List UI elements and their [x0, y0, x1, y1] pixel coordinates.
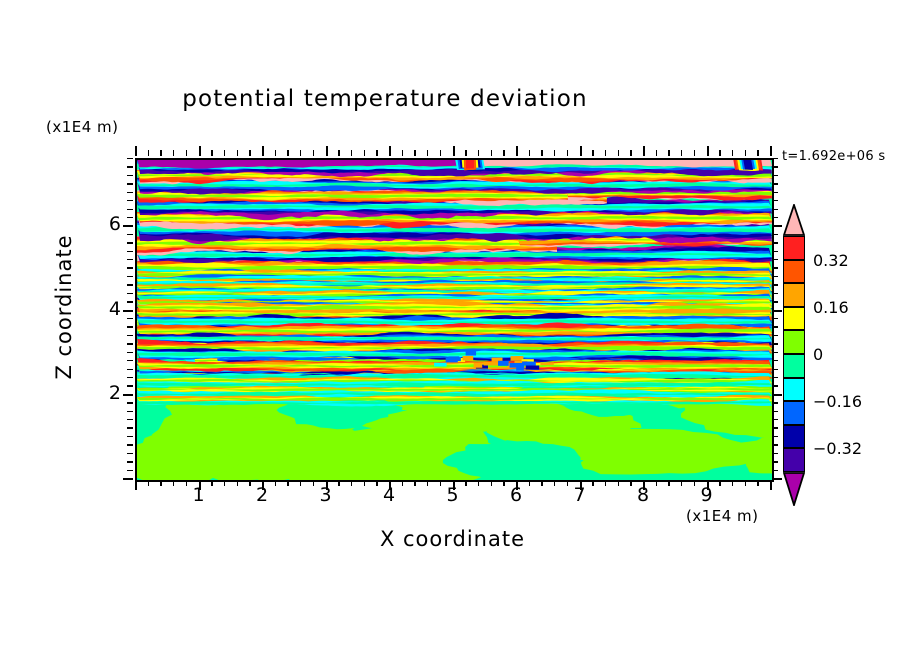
tick-mark — [668, 150, 669, 156]
tick-mark — [127, 453, 133, 454]
tick-mark — [668, 480, 669, 486]
tick-mark — [127, 175, 133, 176]
tick-mark — [707, 146, 709, 156]
x-axis-label: X coordinate — [135, 527, 770, 551]
tick-mark — [618, 480, 619, 486]
tick-mark — [681, 150, 682, 156]
tick-mark — [123, 310, 133, 312]
tick-mark — [681, 480, 682, 486]
tick-mark — [123, 394, 133, 396]
tick-mark — [237, 150, 238, 156]
tick-mark — [772, 234, 778, 235]
tick-mark — [127, 267, 133, 268]
tick-mark — [127, 335, 133, 336]
tick-mark — [127, 200, 133, 201]
z-tick-label: 4 — [87, 298, 121, 320]
tick-mark — [160, 480, 161, 486]
tick-mark — [224, 480, 225, 486]
colorbar-band — [783, 425, 805, 449]
tick-mark — [127, 209, 133, 210]
tick-mark — [127, 377, 133, 378]
tick-mark — [772, 225, 782, 227]
tick-mark — [427, 150, 428, 156]
tick-mark — [643, 146, 645, 156]
tick-mark — [127, 360, 133, 361]
tick-mark — [772, 461, 778, 462]
tick-mark — [491, 480, 492, 486]
tick-mark — [745, 150, 746, 156]
tick-mark — [326, 146, 328, 156]
tick-mark — [262, 146, 264, 156]
tick-mark — [127, 343, 133, 344]
x-tick-label: 4 — [369, 484, 409, 506]
tick-mark — [772, 402, 778, 403]
tick-mark — [127, 242, 133, 243]
tick-mark — [772, 478, 782, 480]
page-title: potential temperature deviation — [0, 86, 770, 112]
tick-mark — [127, 436, 133, 437]
tick-mark — [772, 318, 778, 319]
colorbar-band — [783, 448, 805, 472]
tick-mark — [135, 146, 137, 156]
tick-mark — [772, 436, 778, 437]
tick-mark — [453, 146, 455, 156]
x-axis-units: (x1E4 m) — [686, 507, 759, 525]
tick-mark — [127, 411, 133, 412]
tick-mark — [541, 480, 542, 486]
tick-mark — [127, 444, 133, 445]
tick-mark — [127, 301, 133, 302]
tick-mark — [529, 150, 530, 156]
tick-mark — [745, 480, 746, 486]
tick-mark — [541, 150, 542, 156]
tick-mark — [605, 150, 606, 156]
tick-mark — [772, 209, 778, 210]
colorbar-band — [783, 260, 805, 284]
colorbar-band — [783, 307, 805, 331]
tick-mark — [338, 150, 339, 156]
tick-mark — [127, 217, 133, 218]
z-tick-label: 2 — [87, 382, 121, 404]
contour-svg — [137, 160, 772, 480]
tick-mark — [127, 461, 133, 462]
tick-mark — [719, 150, 720, 156]
tick-mark — [211, 150, 212, 156]
tick-mark — [770, 146, 772, 156]
tick-mark — [757, 150, 758, 156]
tick-mark — [516, 146, 518, 156]
x-tick-label: 6 — [496, 484, 536, 506]
tick-mark — [351, 480, 352, 486]
tick-mark — [772, 166, 778, 167]
tick-mark — [478, 150, 479, 156]
tick-mark — [772, 360, 778, 361]
tick-mark — [772, 284, 778, 285]
tick-mark — [127, 352, 133, 353]
tick-mark — [127, 158, 133, 159]
tick-mark — [772, 419, 778, 420]
colorbar-tick-label: 0.32 — [813, 251, 849, 270]
tick-mark — [148, 150, 149, 156]
tick-mark — [186, 150, 187, 156]
tick-mark — [275, 150, 276, 156]
x-tick-label: 5 — [433, 484, 473, 506]
tick-mark — [127, 326, 133, 327]
tick-mark — [772, 175, 778, 176]
colorbar-band — [783, 330, 805, 354]
colorbar-band — [783, 378, 805, 402]
colorbar-tick-label: −0.16 — [813, 392, 862, 411]
x-tick-label: 8 — [623, 484, 663, 506]
colorbar-under-arrow — [783, 472, 805, 506]
tick-mark — [376, 150, 377, 156]
tick-mark — [732, 480, 733, 486]
tick-mark — [127, 369, 133, 370]
tick-mark — [402, 150, 403, 156]
tick-mark — [772, 343, 778, 344]
tick-mark — [173, 480, 174, 486]
tick-mark — [772, 470, 778, 471]
tick-mark — [364, 480, 365, 486]
tick-mark — [351, 150, 352, 156]
tick-mark — [630, 150, 631, 156]
colorbar-band — [783, 401, 805, 425]
colorbar-band — [783, 236, 805, 260]
tick-mark — [772, 251, 778, 252]
z-tick-label: 6 — [87, 213, 121, 235]
colorbar-tick-label: 0 — [813, 345, 823, 364]
tick-mark — [287, 150, 288, 156]
tick-mark — [772, 276, 778, 277]
tick-mark — [772, 267, 778, 268]
colorbar-tick-label: −0.32 — [813, 439, 862, 458]
tick-mark — [440, 150, 441, 156]
tick-mark — [772, 453, 778, 454]
tick-mark — [237, 480, 238, 486]
tick-mark — [694, 150, 695, 156]
tick-mark — [772, 326, 778, 327]
tick-mark — [478, 480, 479, 486]
x-tick-label: 7 — [560, 484, 600, 506]
tick-mark — [127, 385, 133, 386]
tick-mark — [127, 183, 133, 184]
tick-mark — [300, 150, 301, 156]
time-annotation: t=1.692e+06 s — [782, 149, 885, 164]
tick-mark — [127, 251, 133, 252]
tick-mark — [772, 217, 778, 218]
plot-area — [135, 158, 774, 482]
tick-mark — [772, 200, 778, 201]
colorbar: 0.320.160−0.16−0.32 — [783, 236, 805, 472]
tick-mark — [300, 480, 301, 486]
tick-mark — [127, 284, 133, 285]
x-tick-label: 1 — [179, 484, 219, 506]
z-axis-label: Z coordinate — [52, 207, 76, 407]
tick-mark — [554, 150, 555, 156]
tick-mark — [127, 318, 133, 319]
tick-mark — [772, 310, 782, 312]
tick-mark — [772, 369, 778, 370]
tick-mark — [127, 402, 133, 403]
tick-mark — [123, 225, 133, 227]
tick-mark — [127, 192, 133, 193]
tick-mark — [772, 183, 778, 184]
tick-mark — [592, 150, 593, 156]
tick-mark — [656, 150, 657, 156]
tick-mark — [287, 480, 288, 486]
tick-mark — [772, 192, 778, 193]
tick-mark — [127, 427, 133, 428]
tick-mark — [160, 150, 161, 156]
tick-mark — [414, 480, 415, 486]
tick-mark — [772, 335, 778, 336]
x-tick-label: 3 — [306, 484, 346, 506]
tick-mark — [127, 419, 133, 420]
colorbar-band — [783, 283, 805, 307]
tick-mark — [364, 150, 365, 156]
tick-mark — [772, 377, 778, 378]
tick-mark — [127, 166, 133, 167]
tick-mark — [772, 394, 782, 396]
z-axis-units: (x1E4 m) — [46, 118, 119, 136]
tick-mark — [249, 150, 250, 156]
x-tick-label: 9 — [687, 484, 727, 506]
tick-mark — [772, 242, 778, 243]
tick-mark — [491, 150, 492, 156]
tick-mark — [224, 150, 225, 156]
tick-mark — [772, 385, 778, 386]
tick-mark — [127, 293, 133, 294]
tick-mark — [123, 478, 133, 480]
tick-mark — [772, 352, 778, 353]
tick-mark — [127, 234, 133, 235]
tick-mark — [772, 158, 778, 159]
tick-mark — [127, 276, 133, 277]
tick-mark — [605, 480, 606, 486]
tick-mark — [313, 150, 314, 156]
tick-mark — [770, 480, 772, 490]
tick-mark — [772, 301, 778, 302]
figure-canvas: potential temperature deviation (x1E4 m)… — [0, 0, 904, 654]
tick-mark — [148, 480, 149, 486]
colorbar-tick-label: 0.16 — [813, 298, 849, 317]
tick-mark — [127, 470, 133, 471]
tick-mark — [567, 150, 568, 156]
colorbar-over-arrow — [783, 204, 805, 236]
tick-mark — [618, 150, 619, 156]
tick-mark — [732, 150, 733, 156]
tick-mark — [427, 480, 428, 486]
colorbar-band — [783, 354, 805, 378]
tick-mark — [389, 146, 391, 156]
tick-mark — [772, 293, 778, 294]
tick-mark — [580, 146, 582, 156]
tick-mark — [772, 444, 778, 445]
tick-mark — [414, 150, 415, 156]
tick-mark — [503, 150, 504, 156]
tick-mark — [757, 480, 758, 486]
tick-mark — [554, 480, 555, 486]
tick-mark — [465, 150, 466, 156]
tick-mark — [135, 480, 137, 490]
contour-field — [137, 160, 772, 480]
tick-mark — [127, 259, 133, 260]
tick-mark — [772, 427, 778, 428]
tick-mark — [772, 259, 778, 260]
x-tick-label: 2 — [242, 484, 282, 506]
tick-mark — [173, 150, 174, 156]
tick-mark — [199, 146, 201, 156]
tick-mark — [772, 411, 778, 412]
